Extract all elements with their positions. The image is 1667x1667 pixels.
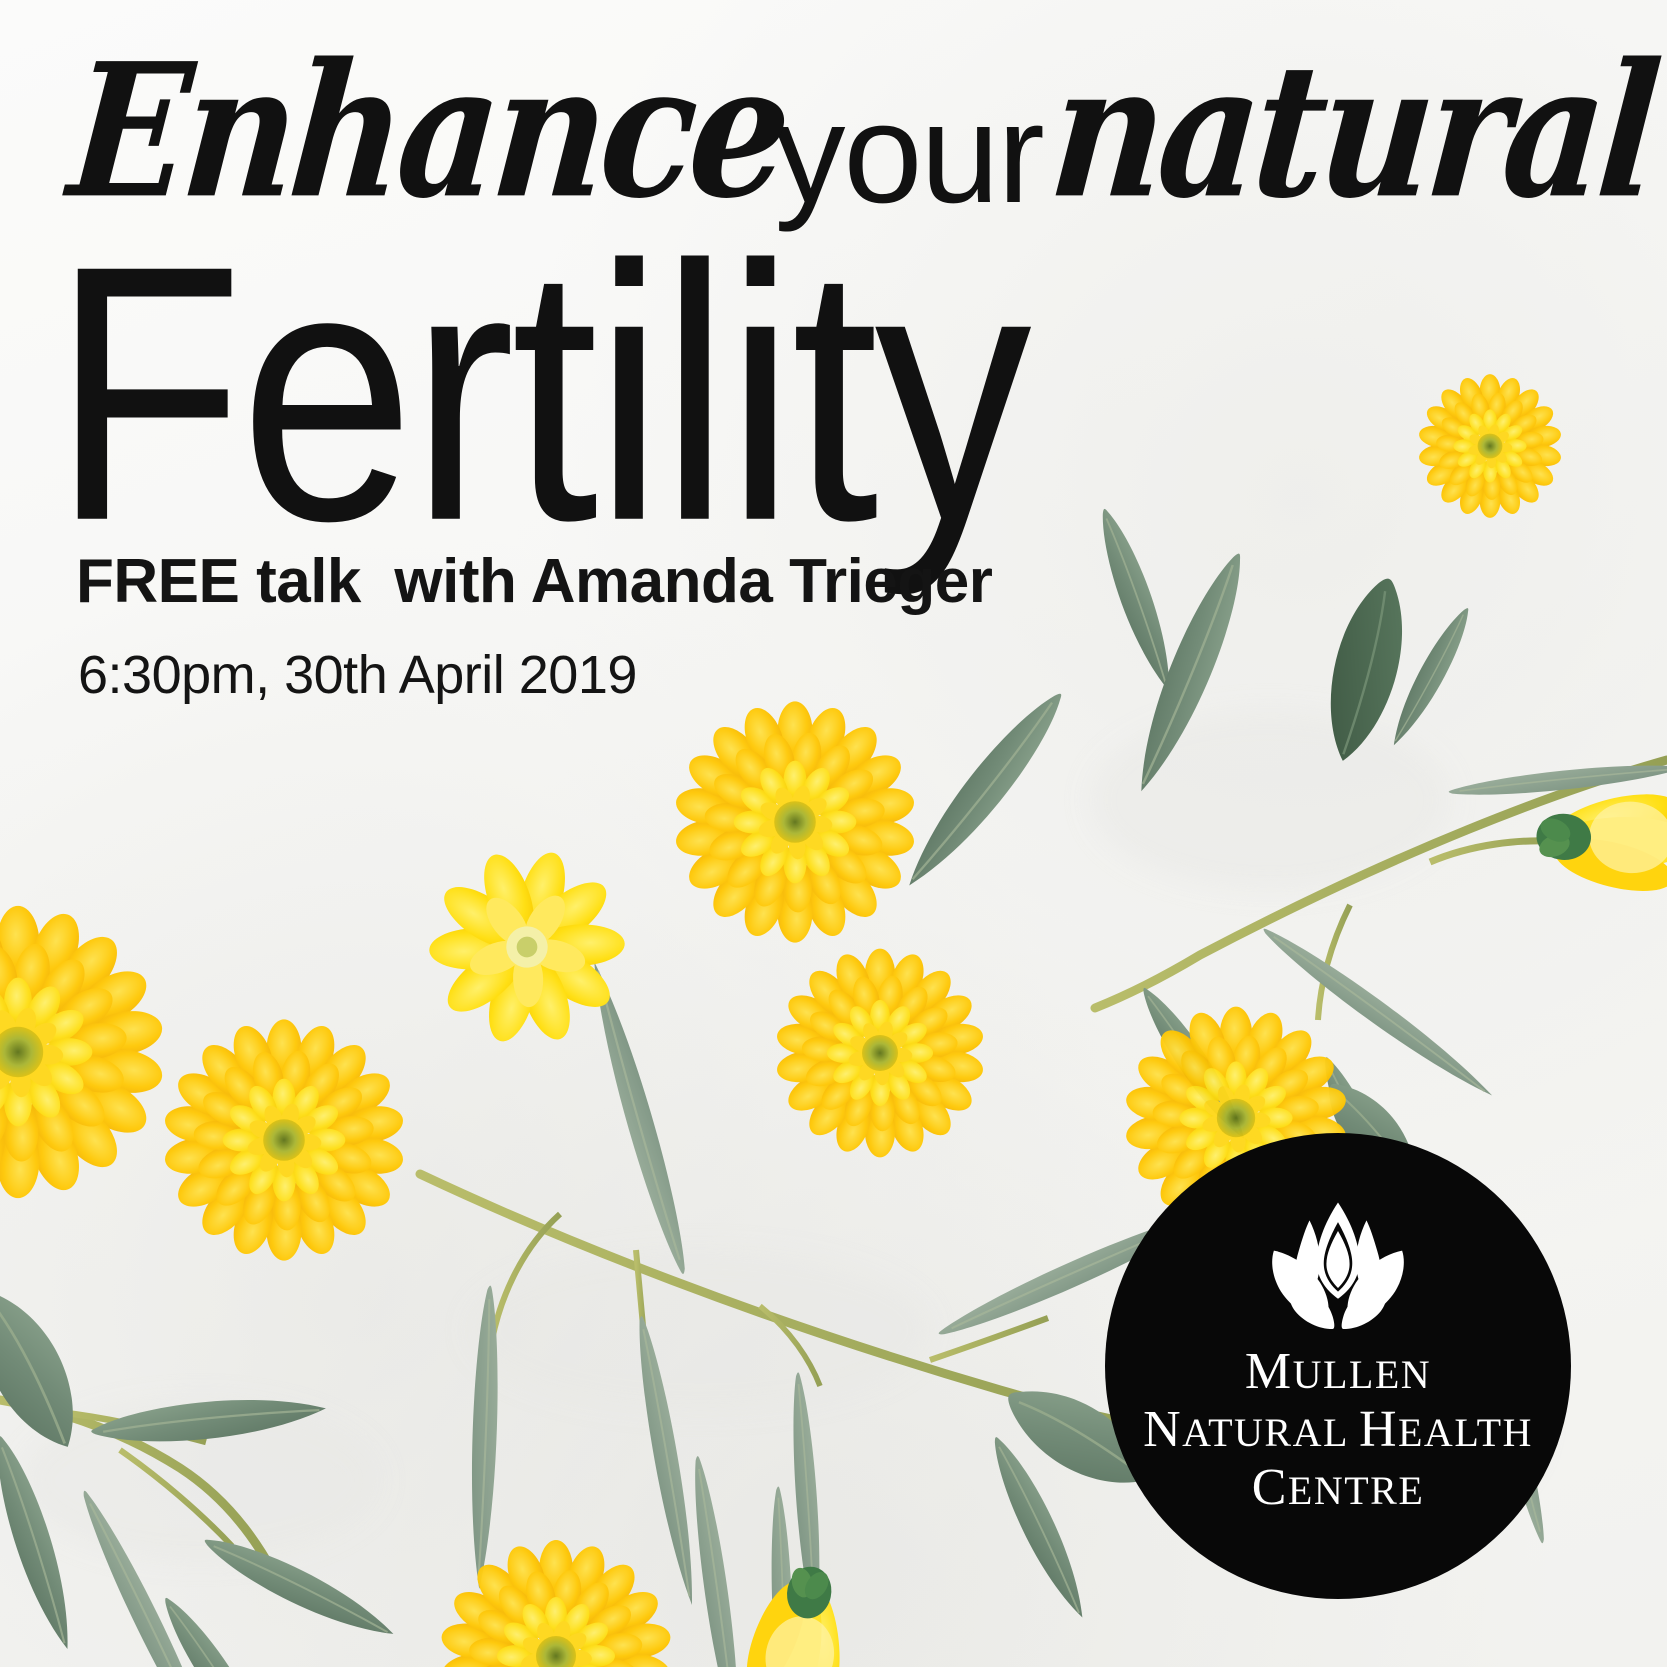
poster-canvas: Enhanceyournatural Fertility FREE talk w…: [0, 0, 1667, 1667]
logo-wordmark: MULLEN NATURAL HEALTH CENTRE: [1143, 1343, 1533, 1518]
lotus-flower-icon: [1248, 1199, 1428, 1329]
event-datetime: 6:30pm, 30th April 2019: [78, 644, 637, 706]
event-subtitle: FREE talk with Amanda Trieger: [76, 546, 992, 617]
page-title: Fertility: [52, 212, 1028, 575]
logo-badge[interactable]: MULLEN NATURAL HEALTH CENTRE: [1105, 1133, 1571, 1599]
headline-script-word-2: natural: [1043, 23, 1662, 239]
logo-line-1: MULLEN: [1143, 1343, 1533, 1401]
logo-line-3: CENTRE: [1143, 1459, 1533, 1517]
logo-line-2: NATURAL HEALTH: [1143, 1401, 1533, 1459]
